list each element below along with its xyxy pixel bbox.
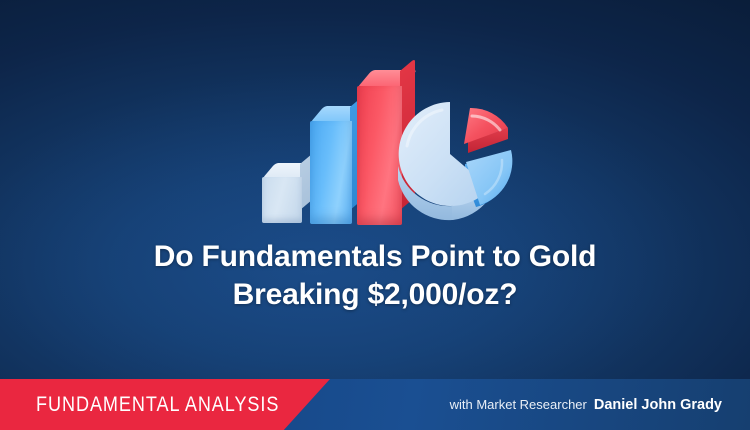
footer-bar: FUNDAMENTAL ANALYSIS with Market Researc… [0, 379, 750, 430]
page-title-line-1: Do Fundamentals Point to Gold [154, 240, 597, 273]
video-thumbnail-slide: Do Fundamentals Point to Gold Breaking $… [0, 0, 750, 430]
pie-chart-icon [390, 88, 520, 223]
page-title-line-2: Breaking $2,000/oz? [0, 276, 750, 314]
bar-medium-blue-icon [310, 106, 360, 224]
category-label: FUNDAMENTAL ANALYSIS [36, 379, 279, 430]
host-credit: with Market Researcher Daniel John Grady [450, 379, 722, 430]
bar-small-light-icon [262, 163, 304, 223]
chart-illustration [250, 58, 520, 223]
bar-medium-front-face [310, 121, 352, 224]
page-title: Do Fundamentals Point to Gold Breaking $… [0, 238, 750, 315]
host-name-label: Daniel John Grady [594, 397, 722, 413]
credit-prefix-label: with Market Researcher [450, 397, 587, 412]
bar-small-front-face [262, 177, 302, 223]
